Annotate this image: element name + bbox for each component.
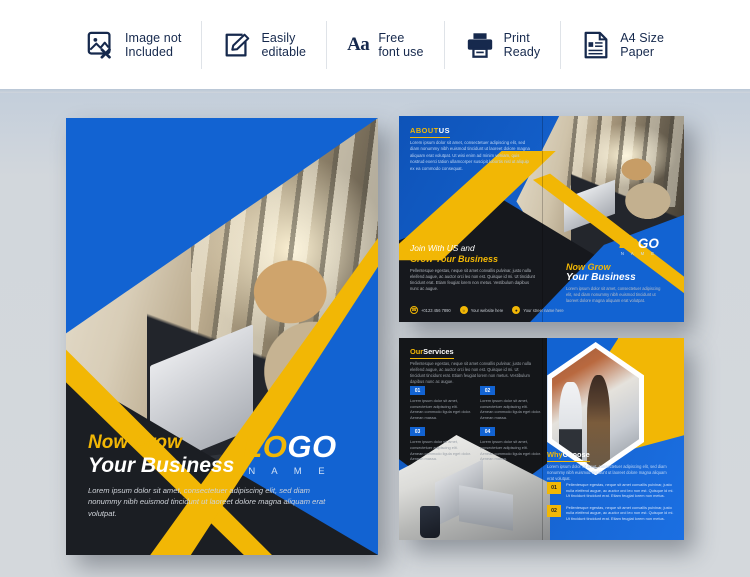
about-us-heading: ABOUTUS	[410, 126, 450, 138]
cover-body-text: Lorem ipsum dolor sit amet, consectetuer…	[88, 485, 340, 520]
service-item: 04 Lorem ipsum dolor sit amet, consectet…	[480, 427, 542, 461]
our-services-heading: OurServices	[410, 347, 454, 359]
service-item: 03 Lorem ipsum dolor sit amet, consectet…	[410, 427, 472, 461]
printer-icon	[465, 30, 495, 60]
join-body: Pellentesque egestas, neque sit amet con…	[410, 268, 536, 292]
service-item: 02 Lorem ipsum dolor sit amet, consectet…	[480, 386, 542, 420]
contact-address-text: Your street name here	[523, 308, 563, 313]
join-line1: Join With US and	[410, 243, 536, 253]
feature-label: Print Ready	[504, 31, 541, 59]
service-number: 03	[410, 427, 425, 436]
document-page-icon	[581, 30, 611, 60]
feature-label: Free font use	[378, 31, 423, 59]
contact-phone-text: +0123 456 7890	[421, 308, 451, 313]
feature-label: Easily editable	[261, 31, 306, 59]
services-grid: 01 Lorem ipsum dolor sit amet, consectet…	[410, 386, 542, 462]
about-heading-part2: US	[439, 126, 450, 135]
feature-label: Image not Included	[125, 31, 182, 59]
spread-top-cta-body: Lorem ipsum dolor sit amet, consectetuer…	[566, 286, 662, 304]
feature-image-not-included: Image not Included	[66, 21, 202, 69]
why-choose-heading: WhyChoose	[547, 450, 590, 462]
spread-top-fold-line	[542, 116, 543, 322]
why-heading-part1: Why	[547, 450, 563, 459]
desk-photo-mug	[420, 506, 440, 538]
why-item-number: 01	[547, 482, 561, 494]
service-text: Lorem ipsum dolor sit amet, consectetuer…	[410, 398, 472, 420]
service-number: 02	[480, 386, 495, 395]
contact-phone[interactable]: ☎ +0123 456 7890	[410, 306, 451, 314]
feature-label: A4 Size Paper	[620, 31, 664, 59]
contact-website[interactable]: ☼ Your website here	[460, 306, 504, 314]
contact-address[interactable]: ● Your street name here	[512, 306, 563, 314]
service-number: 01	[410, 386, 425, 395]
join-line2: Grow Your Business	[410, 254, 536, 264]
service-text: Lorem ipsum dolor sit amet, consectetuer…	[480, 439, 542, 461]
service-text: Lorem ipsum dolor sit amet, consectetuer…	[410, 439, 472, 461]
join-block: Join With US and Grow Your Business Pell…	[410, 243, 536, 292]
image-not-included-icon	[86, 30, 116, 60]
our-services-body: Pellentesque egestas, neque sit amet con…	[410, 361, 534, 385]
why-heading-part2: Choose	[563, 450, 590, 459]
spread-top-logo-part2: GO	[638, 236, 659, 251]
desk-photo-laptop-2	[459, 485, 513, 530]
cover-title-line1: Now Grow	[88, 432, 340, 454]
spread-top-cta-line2: Your Business	[566, 272, 676, 283]
services-heading-part1: Our	[410, 347, 423, 356]
service-text: Lorem ipsum dolor sit amet, consectetuer…	[480, 398, 542, 420]
spread-top-cta-line1: Now Grow	[566, 262, 676, 272]
spread-top-logo: LOGO N A M E	[606, 236, 672, 256]
why-item-text: Pellentesque egestas, neque sit amet con…	[566, 505, 675, 522]
why-item: 02 Pellentesque egestas, neque sit amet …	[547, 505, 675, 522]
spread-bottom-fold-line	[542, 338, 543, 540]
feature-free-font-use: Aa Free font use	[326, 21, 444, 69]
why-item: 01 Pellentesque egestas, neque sit amet …	[547, 482, 675, 499]
phone-icon: ☎	[410, 306, 418, 314]
why-item-text: Pellentesque egestas, neque sit amet con…	[566, 482, 675, 499]
why-choose-list: 01 Pellentesque egestas, neque sit amet …	[547, 482, 675, 528]
service-number: 04	[480, 427, 495, 436]
font-aa-icon: Aa	[347, 34, 369, 56]
feature-a4-size-paper: A4 Size Paper	[560, 21, 684, 69]
about-heading-part1: ABOUT	[410, 126, 439, 135]
brochure-cover-page[interactable]: LOGO N A M E Now Grow Your Business Lore…	[66, 118, 378, 555]
why-item-number: 02	[547, 505, 561, 517]
services-heading-part2: Services	[423, 347, 453, 356]
cover-headline-block: Now Grow Your Business Lorem ipsum dolor…	[88, 432, 340, 520]
feature-easily-editable: Easily editable	[201, 21, 326, 69]
spread-top-cta-block: Now Grow Your Business Lorem ipsum dolor…	[566, 262, 676, 304]
location-icon: ●	[512, 306, 520, 314]
brochure-spread-top[interactable]: ABOUTUS Lorem ipsum dolor sit amet, cons…	[399, 116, 684, 322]
mockup-stage: LOGO N A M E Now Grow Your Business Lore…	[0, 89, 750, 577]
cover-title-line2: Your Business	[88, 454, 340, 478]
feature-print-ready: Print Ready	[444, 21, 561, 69]
why-choose-body: Lorem ipsum dolor sit amet, consectetuer…	[547, 464, 671, 482]
service-item: 01 Lorem ipsum dolor sit amet, consectet…	[410, 386, 472, 420]
feature-bar: Image not Included Easily editable Aa Fr…	[0, 0, 750, 89]
spread-top-logo-part1: LO	[619, 236, 638, 251]
globe-icon: ☼	[460, 306, 468, 314]
pencil-edit-icon	[222, 30, 252, 60]
brochure-spread-bottom[interactable]: OurServices Pellentesque egestas, neque …	[399, 338, 684, 540]
contact-website-text: Your website here	[471, 308, 504, 313]
spread-top-logo-name: N A M E	[606, 251, 672, 256]
about-us-body: Lorem ipsum dolor sit amet, consectetuer…	[410, 140, 532, 172]
